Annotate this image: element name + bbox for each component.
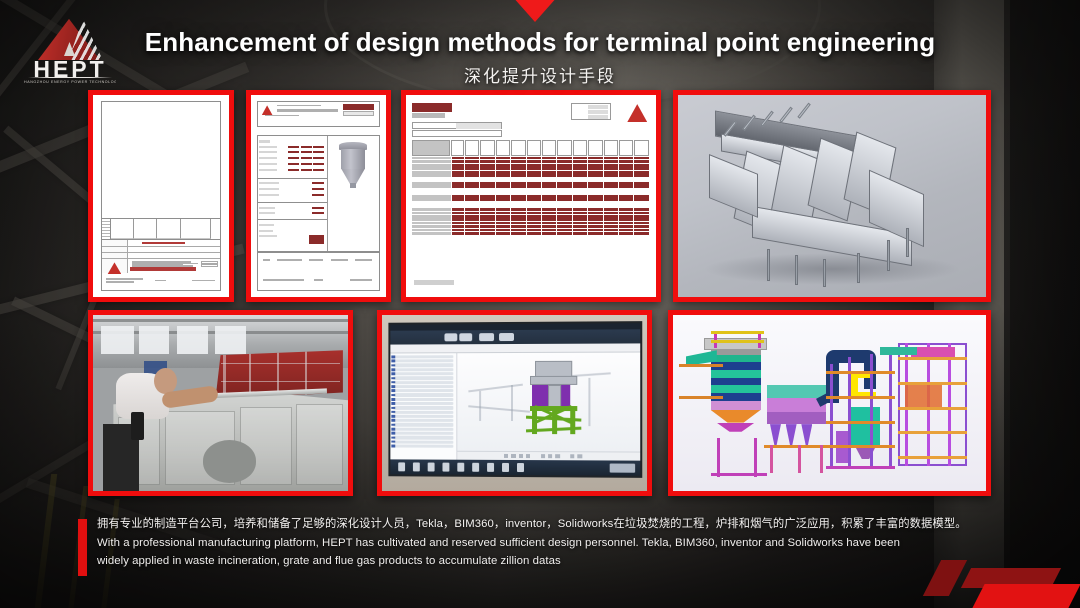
tree-item[interactable] — [394, 393, 454, 396]
data-cell — [634, 215, 648, 218]
param-value-cell — [288, 157, 299, 159]
panel-bim-software-monitor[interactable] — [377, 310, 652, 496]
data-cell — [634, 212, 648, 215]
data-cell — [619, 208, 633, 211]
rack-upright — [249, 351, 252, 397]
data-cell — [588, 174, 602, 177]
ribbon-button[interactable] — [460, 333, 472, 341]
data-cell — [496, 195, 510, 198]
data-cell — [452, 164, 465, 167]
frame-beam — [826, 421, 895, 424]
footer-cell — [263, 259, 270, 261]
frame-beam — [898, 456, 967, 459]
data-cell — [480, 164, 494, 167]
taskbar-icon[interactable] — [472, 463, 479, 472]
data-cell — [542, 215, 556, 218]
column-header — [604, 140, 618, 155]
tree-checkbox[interactable] — [392, 394, 396, 396]
tree-checkbox[interactable] — [392, 356, 396, 359]
data-cell — [452, 218, 465, 221]
spreadsheet-doc-info-box — [571, 103, 611, 120]
param-label — [259, 235, 277, 237]
ribbon-button[interactable] — [499, 333, 514, 341]
column-header — [588, 140, 602, 155]
support-leg — [857, 253, 860, 283]
param-value-cell — [313, 169, 324, 171]
tree-checkbox[interactable] — [392, 432, 396, 435]
param-value-cell — [301, 163, 312, 165]
status-icon[interactable] — [570, 454, 574, 459]
tree-checkbox[interactable] — [392, 360, 396, 363]
data-cell — [634, 225, 648, 228]
status-icon[interactable] — [526, 454, 530, 459]
windows-taskbar[interactable] — [391, 459, 641, 475]
status-icon[interactable] — [556, 454, 560, 459]
param-value-cell — [301, 157, 312, 159]
tree-item[interactable] — [394, 406, 454, 409]
data-cell — [496, 174, 510, 177]
data-cell — [573, 167, 587, 170]
ghost-geometry — [468, 406, 530, 413]
tree-checkbox[interactable] — [392, 402, 396, 404]
drawing-footer — [102, 273, 220, 290]
footer-text-line — [106, 281, 134, 283]
vessel-outlet — [350, 183, 356, 188]
data-cell — [588, 195, 602, 198]
row-label — [412, 157, 450, 160]
data-cell — [604, 225, 618, 228]
data-cell — [557, 167, 571, 170]
data-cell — [634, 198, 648, 201]
data-cell — [480, 157, 494, 160]
row-label — [412, 229, 450, 232]
data-cell — [496, 185, 510, 188]
data-cell — [511, 212, 525, 215]
data-cell — [557, 232, 571, 235]
tree-item[interactable] — [394, 415, 454, 418]
panel-grate-assembly-cad[interactable] — [673, 90, 991, 302]
data-cell — [619, 167, 633, 170]
tree-item[interactable] — [394, 389, 454, 392]
panel-equipment-datasheet[interactable] — [246, 90, 391, 302]
tree-item[interactable] — [394, 402, 454, 405]
data-cell — [557, 215, 571, 218]
taskbar-icon[interactable] — [442, 462, 449, 471]
system-tray[interactable] — [610, 463, 635, 472]
data-cell — [527, 157, 541, 160]
row-label — [412, 232, 450, 235]
data-cell — [465, 218, 479, 221]
title-block-label — [102, 247, 128, 252]
data-cell — [604, 198, 618, 201]
caption-english-line-1: With a professional manufacturing platfo… — [97, 534, 1036, 552]
doc-info-value — [588, 105, 608, 109]
data-cell — [496, 157, 510, 160]
caption-accent-bar — [78, 519, 87, 576]
data-cell — [452, 195, 465, 198]
data-cell — [496, 167, 510, 170]
taskbar-icon[interactable] — [502, 463, 509, 472]
data-cell — [465, 167, 479, 170]
data-cell — [465, 225, 479, 228]
data-cell — [634, 171, 648, 174]
row-label — [412, 160, 450, 163]
data-cell — [527, 185, 541, 188]
data-cell — [527, 198, 541, 201]
datasheet-header-grey-block — [343, 111, 374, 116]
data-cell — [511, 222, 525, 225]
data-cell — [588, 164, 602, 167]
monitor-photo-content — [382, 315, 647, 491]
data-cell — [604, 167, 618, 170]
data-cell — [511, 157, 525, 160]
data-cell — [557, 171, 571, 174]
data-cell — [588, 229, 602, 232]
hept-logo: HEPT HANGZHOU ENERGY POWER TECHNOLOGY — [24, 18, 116, 90]
tree-checkbox[interactable] — [392, 424, 396, 426]
app-ribbon[interactable] — [391, 329, 641, 344]
data-cell — [573, 157, 587, 160]
param-label — [259, 169, 277, 171]
data-cell — [452, 222, 465, 225]
tree-checkbox[interactable] — [392, 445, 396, 448]
table-row — [412, 174, 650, 177]
model-tree-panel[interactable] — [391, 353, 458, 460]
data-cell — [465, 185, 479, 188]
data-cell — [588, 222, 602, 225]
doc-info-value — [588, 115, 608, 119]
data-cell — [557, 208, 571, 211]
column-header — [573, 140, 587, 155]
param-label — [259, 140, 270, 143]
tree-item[interactable] — [394, 398, 454, 401]
row-label — [412, 171, 450, 174]
data-cell — [604, 182, 618, 185]
data-cell — [527, 195, 541, 198]
tree-item[interactable] — [394, 423, 454, 426]
table-row — [412, 171, 650, 174]
data-cell — [619, 215, 633, 218]
tree-checkbox[interactable] — [392, 373, 396, 375]
grate-push-rod — [779, 106, 793, 122]
tree-item[interactable] — [394, 376, 454, 379]
param-label — [259, 224, 274, 226]
title-block-value-red — [142, 242, 184, 244]
status-icon[interactable] — [578, 454, 582, 459]
tree-checkbox[interactable] — [392, 407, 396, 409]
table-row — [412, 212, 650, 215]
title-block-drawing-no — [201, 261, 218, 264]
tree-checkbox[interactable] — [392, 415, 396, 417]
row-label — [412, 215, 450, 218]
tree-item[interactable] — [394, 436, 454, 439]
data-cell — [452, 229, 465, 232]
tree-checkbox[interactable] — [392, 428, 396, 431]
status-icon[interactable] — [548, 454, 552, 459]
taskbar-icon[interactable] — [457, 463, 464, 472]
plant-model-content — [673, 315, 986, 491]
footer-cell — [331, 259, 348, 261]
tree-checkbox[interactable] — [392, 385, 396, 387]
tower-frame-beam — [711, 331, 764, 334]
tower-outlet — [711, 423, 761, 432]
module-round-opening — [203, 440, 257, 482]
tree-checkbox[interactable] — [392, 398, 396, 400]
tree-item[interactable] — [394, 381, 454, 384]
data-cell — [511, 174, 525, 177]
row-label — [412, 222, 450, 225]
data-cell — [634, 157, 648, 160]
data-cell — [465, 208, 479, 211]
footer-cell — [355, 259, 372, 261]
tree-item[interactable] — [394, 419, 454, 422]
data-cell — [496, 232, 510, 235]
company-triangle-icon — [627, 104, 647, 122]
panel-workshop-inspection-photo[interactable] — [88, 310, 353, 496]
data-cell — [604, 174, 618, 177]
frame-beam — [898, 357, 967, 360]
tree-item[interactable] — [394, 359, 454, 362]
tower-cone — [711, 410, 761, 423]
ghost-geometry — [468, 384, 522, 393]
datasheet-field-line — [265, 115, 299, 117]
tower-ring — [711, 378, 761, 385]
datasheet-header-red-block — [343, 104, 374, 110]
data-cell — [527, 182, 541, 185]
data-cell — [604, 160, 618, 163]
tree-checkbox[interactable] — [392, 381, 396, 383]
logo-divider — [28, 77, 112, 78]
module-panel — [296, 404, 343, 484]
workshop-window — [177, 326, 208, 354]
data-cell — [527, 167, 541, 170]
data-cell — [619, 232, 633, 235]
model-3d-viewport[interactable] — [457, 352, 641, 460]
data-cell — [604, 157, 618, 160]
data-cell — [527, 212, 541, 215]
support-leg — [754, 438, 757, 477]
data-cell — [604, 222, 618, 225]
data-cell — [619, 174, 633, 177]
param-value-cell — [312, 207, 324, 209]
status-icon[interactable] — [541, 454, 545, 459]
data-cell — [542, 167, 556, 170]
caption-block: 拥有专业的制造平台公司，培养和储备了足够的深化设计人员，Tekla，BIM360… — [0, 510, 1080, 608]
param-value-cell — [301, 169, 312, 171]
ghost-geometry — [589, 378, 591, 425]
tree-item[interactable] — [394, 372, 454, 375]
title-block-row — [102, 240, 220, 247]
spreadsheet-field-value — [456, 123, 501, 128]
status-icon[interactable] — [512, 454, 516, 459]
tree-item[interactable] — [394, 444, 454, 448]
data-cell — [588, 198, 602, 201]
tree-item[interactable] — [394, 368, 454, 371]
tower-ring — [711, 401, 761, 410]
tree-checkbox[interactable] — [392, 411, 396, 413]
frame-beam — [826, 396, 895, 399]
param-value-cell — [309, 235, 324, 244]
tree-item[interactable] — [394, 432, 454, 435]
spreadsheet-block-4 — [412, 208, 650, 234]
status-icon[interactable] — [519, 454, 523, 459]
datasheet-header — [257, 101, 380, 127]
tree-checkbox[interactable] — [392, 377, 396, 379]
revision-row-numbers — [102, 219, 111, 240]
column-header — [634, 140, 648, 155]
title-block-label — [102, 253, 128, 258]
data-cell — [465, 232, 479, 235]
tree-item[interactable] — [394, 410, 454, 413]
data-cell — [588, 212, 602, 215]
frame-column — [948, 343, 951, 466]
tower-ring — [711, 370, 761, 378]
data-cell — [634, 182, 648, 185]
data-cell — [452, 225, 465, 228]
data-cell — [557, 160, 571, 163]
param-value-cell — [312, 194, 324, 196]
data-cell — [465, 222, 479, 225]
data-cell — [619, 218, 633, 221]
spreadsheet-content — [406, 95, 656, 297]
workshop-scene — [93, 315, 348, 491]
support-leg — [795, 255, 798, 285]
row-label — [412, 185, 450, 188]
monitor-screen[interactable] — [389, 321, 643, 478]
data-cell — [588, 225, 602, 228]
tree-checkbox[interactable] — [392, 390, 396, 392]
tree-checkbox[interactable] — [392, 440, 396, 443]
data-cell — [527, 225, 541, 228]
data-cell — [573, 185, 587, 188]
data-cell — [542, 222, 556, 225]
data-cell — [542, 195, 556, 198]
data-cell — [542, 160, 556, 163]
ceiling-truss — [93, 319, 348, 322]
tree-checkbox[interactable] — [392, 364, 396, 367]
tree-checkbox[interactable] — [392, 419, 396, 421]
caption-text: 拥有专业的制造平台公司，培养和储备了足够的深化设计人员，Tekla，BIM360… — [97, 516, 1036, 570]
param-value-cell — [313, 163, 324, 165]
support-leg — [887, 240, 890, 270]
data-cell — [604, 218, 618, 221]
filter-hopper — [770, 424, 781, 445]
data-cell — [480, 198, 494, 201]
row-label — [412, 195, 450, 198]
ghost-geometry — [512, 385, 514, 421]
data-cell — [527, 174, 541, 177]
support-leg — [767, 249, 770, 281]
column-header — [465, 140, 479, 155]
spreadsheet-block-2 — [412, 182, 650, 190]
data-cell — [542, 171, 556, 174]
data-cell — [452, 212, 465, 215]
data-cell — [557, 225, 571, 228]
data-cell — [452, 208, 465, 211]
tree-item[interactable] — [394, 427, 454, 430]
tree-checkbox[interactable] — [392, 436, 396, 439]
data-cell — [496, 212, 510, 215]
model-platform — [530, 376, 578, 385]
column-header — [451, 140, 464, 155]
data-cell — [527, 222, 541, 225]
tree-item[interactable] — [394, 385, 454, 388]
data-cell — [511, 215, 525, 218]
data-cell — [557, 157, 571, 160]
data-cell — [542, 174, 556, 177]
param-value-cell — [313, 151, 324, 153]
spreadsheet-field-row — [412, 130, 502, 137]
data-cell — [573, 198, 587, 201]
tree-checkbox[interactable] — [392, 368, 396, 371]
title-block-label — [102, 240, 128, 246]
data-cell — [619, 182, 633, 185]
panel-plant-3d-model[interactable] — [668, 310, 991, 496]
data-cell — [496, 222, 510, 225]
taskbar-icon[interactable] — [487, 463, 494, 472]
data-cell — [588, 160, 602, 163]
data-cell — [588, 232, 602, 235]
data-cell — [619, 222, 633, 225]
data-cell — [573, 212, 587, 215]
taskbar-icon[interactable] — [428, 462, 435, 471]
data-cell — [480, 208, 494, 211]
table-row — [412, 182, 650, 185]
data-cell — [527, 164, 541, 167]
data-cell — [542, 157, 556, 160]
row-label — [412, 164, 450, 167]
data-cell — [480, 232, 494, 235]
ghost-geometry — [479, 391, 481, 421]
frame-column — [830, 364, 833, 466]
tree-item[interactable] — [394, 440, 454, 443]
tree-item[interactable] — [394, 355, 454, 359]
column-header — [619, 140, 633, 155]
data-cell — [588, 185, 602, 188]
ribbon-button[interactable] — [445, 333, 457, 341]
param-label — [259, 163, 277, 165]
taskbar-icon[interactable] — [398, 462, 405, 471]
datasheet-section-divider — [258, 202, 327, 203]
data-cell — [573, 171, 587, 174]
grate-push-rod — [797, 102, 811, 118]
page-title: Enhancement of design methods for termin… — [120, 28, 960, 58]
data-cell — [542, 198, 556, 201]
param-value-cell — [288, 163, 299, 165]
data-cell — [511, 167, 525, 170]
taskbar-icon[interactable] — [413, 462, 420, 471]
panel-drawing-title-block-sheet[interactable] — [88, 90, 234, 302]
drawing-sheet-content — [93, 95, 229, 297]
datasheet-title-line — [277, 105, 321, 107]
data-cell — [557, 195, 571, 198]
taskbar-icon[interactable] — [517, 463, 525, 472]
status-icon[interactable] — [504, 454, 508, 459]
panel-calculation-spreadsheet[interactable] — [401, 90, 661, 302]
param-label — [259, 146, 277, 148]
tree-item[interactable] — [394, 364, 454, 367]
data-cell — [465, 229, 479, 232]
spreadsheet-block-3 — [412, 195, 650, 203]
data-cell — [542, 218, 556, 221]
data-cell — [634, 195, 648, 198]
ribbon-button[interactable] — [480, 333, 495, 341]
table-row — [412, 225, 650, 228]
param-value-cell — [313, 146, 324, 148]
data-cell — [557, 218, 571, 221]
footer-note — [263, 279, 304, 281]
data-cell — [480, 222, 494, 225]
